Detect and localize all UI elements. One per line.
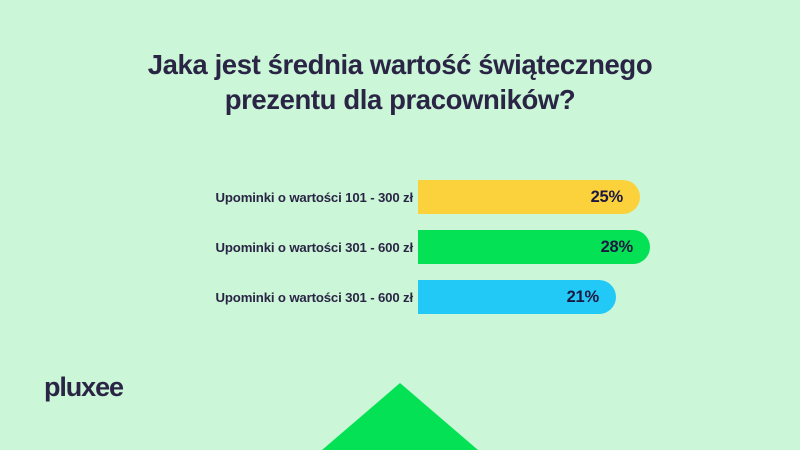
bar-segment: 25% <box>418 180 640 214</box>
bar-value-label: 25% <box>591 189 623 206</box>
pluxee-logo: pluxee <box>44 374 123 401</box>
chart-row: Upominki o wartości 301 - 600 zł 21% <box>0 272 800 322</box>
page-title: Jaka jest średnia wartość świątecznego p… <box>60 47 740 117</box>
bar-track: 28% <box>418 222 800 272</box>
bar-category-label: Upominki o wartości 101 - 300 zł <box>0 190 418 205</box>
bar-chart: Upominki o wartości 101 - 300 zł 25% Upo… <box>0 172 800 322</box>
bar-track: 25% <box>418 172 800 222</box>
bar-category-label: Upominki o wartości 301 - 600 zł <box>0 240 418 255</box>
bar-segment: 28% <box>418 230 650 264</box>
bar-value-label: 21% <box>567 289 599 306</box>
title-line-2: prezentu dla pracowników? <box>60 82 740 117</box>
chart-row: Upominki o wartości 101 - 300 zł 25% <box>0 172 800 222</box>
bar-category-label: Upominki o wartości 301 - 600 zł <box>0 290 418 305</box>
bar-segment: 21% <box>418 280 616 314</box>
bar-track: 21% <box>418 272 800 322</box>
bar-value-label: 28% <box>601 239 633 256</box>
chart-row: Upominki o wartości 301 - 600 zł 28% <box>0 222 800 272</box>
title-line-1: Jaka jest średnia wartość świątecznego <box>60 47 740 82</box>
decorative-triangle-shape <box>322 383 478 450</box>
infographic-canvas: Jaka jest średnia wartość świątecznego p… <box>0 0 800 450</box>
